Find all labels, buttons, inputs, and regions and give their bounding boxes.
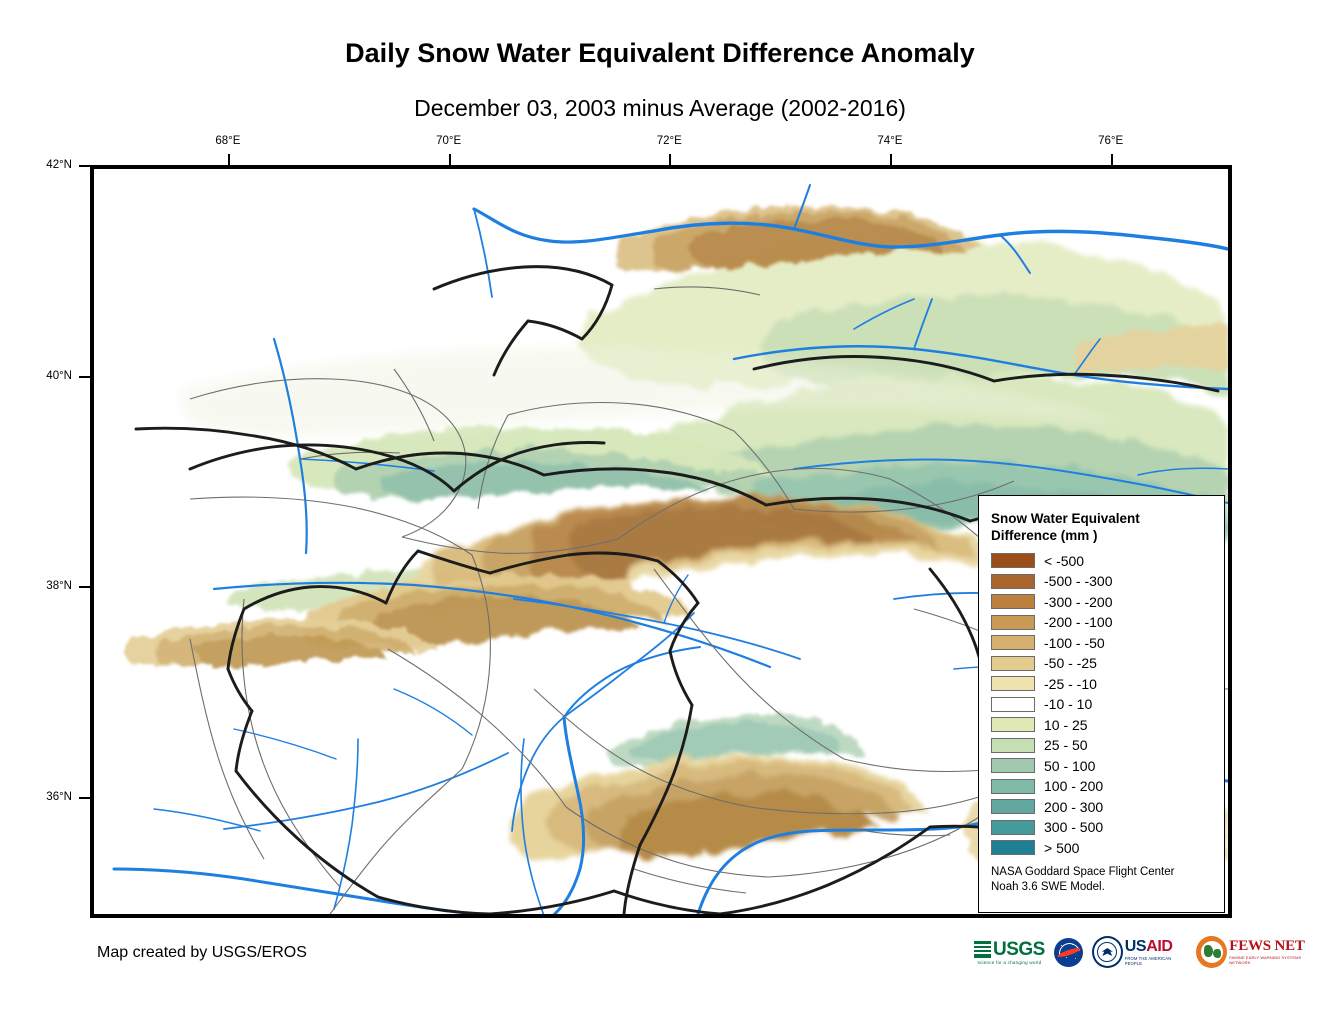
legend-row: -10 - 10 <box>991 694 1214 715</box>
longitude-tick-label: 74°E <box>877 135 902 147</box>
legend-row: 300 - 500 <box>991 817 1214 838</box>
legend-row: 100 - 200 <box>991 776 1214 797</box>
longitude-tick <box>669 154 671 165</box>
legend-label: -25 - -10 <box>1044 676 1097 692</box>
map-legend: Snow Water Equivalent Difference (mm ) <… <box>978 495 1225 913</box>
legend-source-line2: Noah 3.6 SWE Model. <box>991 880 1214 895</box>
legend-swatch <box>991 840 1035 855</box>
usaid-logo: USAID FROM THE AMERICAN PEOPLE <box>1092 935 1187 969</box>
legend-row: 10 - 25 <box>991 715 1214 736</box>
usgs-mark-icon <box>974 941 991 958</box>
latitude-tick-label: 40°N <box>46 370 72 382</box>
latitude-tick <box>79 165 90 167</box>
legend-title-line1: Snow Water Equivalent <box>991 510 1214 527</box>
legend-row: < -500 <box>991 551 1214 572</box>
legend-class-list: < -500-500 - -300-300 - -200-200 - -100-… <box>991 551 1214 859</box>
legend-label: -10 - 10 <box>1044 696 1092 712</box>
page-title: Daily Snow Water Equivalent Difference A… <box>0 38 1320 69</box>
legend-row: -25 - -10 <box>991 674 1214 695</box>
legend-label: -500 - -300 <box>1044 573 1112 589</box>
legend-label: < -500 <box>1044 553 1084 569</box>
legend-swatch <box>991 799 1035 814</box>
longitude-tick-label: 76°E <box>1098 135 1123 147</box>
longitude-tick-label: 72°E <box>657 135 682 147</box>
legend-row: 50 - 100 <box>991 756 1214 777</box>
longitude-tick <box>1111 154 1113 165</box>
legend-swatch <box>991 717 1035 732</box>
legend-swatch <box>991 594 1035 609</box>
legend-source: NASA Goddard Space Flight Center Noah 3.… <box>991 865 1214 895</box>
usgs-wordmark: USGS <box>993 940 1045 959</box>
longitude-tick <box>449 154 451 165</box>
legend-label: -200 - -100 <box>1044 614 1112 630</box>
latitude-tick-label: 42°N <box>46 159 72 171</box>
legend-label: 300 - 500 <box>1044 819 1103 835</box>
legend-row: -500 - -300 <box>991 571 1214 592</box>
usgs-logo: USGS science for a changing world <box>974 935 1045 969</box>
legend-title-line2: Difference (mm ) <box>991 527 1214 544</box>
legend-label: -100 - -50 <box>1044 635 1105 651</box>
legend-swatch <box>991 758 1035 773</box>
longitude-tick-label: 68°E <box>215 135 240 147</box>
legend-swatch <box>991 697 1035 712</box>
fewsnet-logo: FEWS NET FAMINE EARLY WARNING SYSTEMS NE… <box>1196 935 1320 969</box>
legend-title: Snow Water Equivalent Difference (mm ) <box>991 510 1214 545</box>
map-credit: Map created by USGS/EROS <box>97 944 307 962</box>
fewsnet-globe-icon <box>1196 936 1227 968</box>
legend-swatch <box>991 820 1035 835</box>
legend-label: -300 - -200 <box>1044 594 1112 610</box>
legend-label: 10 - 25 <box>1044 717 1088 733</box>
latitude-tick <box>79 376 90 378</box>
usaid-word-us: US <box>1125 938 1146 955</box>
nasa-meatball-icon <box>1054 938 1083 967</box>
legend-row: -100 - -50 <box>991 633 1214 654</box>
legend-label: 100 - 200 <box>1044 778 1103 794</box>
legend-swatch <box>991 615 1035 630</box>
usaid-seal-icon <box>1092 936 1123 968</box>
legend-source-line1: NASA Goddard Space Flight Center <box>991 865 1214 880</box>
page-subtitle: December 03, 2003 minus Average (2002-20… <box>0 95 1320 122</box>
latitude-tick <box>79 797 90 799</box>
latitude-tick-label: 36°N <box>46 791 72 803</box>
latitude-tick <box>79 586 90 588</box>
legend-swatch <box>991 553 1035 568</box>
longitude-tick <box>228 154 230 165</box>
legend-swatch <box>991 738 1035 753</box>
legend-swatch <box>991 635 1035 650</box>
latitude-tick-label: 38°N <box>46 580 72 592</box>
legend-row: -200 - -100 <box>991 612 1214 633</box>
legend-swatch <box>991 574 1035 589</box>
legend-row: 200 - 300 <box>991 797 1214 818</box>
legend-label: 200 - 300 <box>1044 799 1103 815</box>
nasa-logo <box>1054 935 1083 969</box>
logo-strip: USGS science for a changing world USAID … <box>974 934 1320 970</box>
legend-label: 50 - 100 <box>1044 758 1095 774</box>
usgs-tagline: science for a changing world <box>978 960 1042 965</box>
legend-label: > 500 <box>1044 840 1079 856</box>
legend-row: > 500 <box>991 838 1214 859</box>
legend-label: 25 - 50 <box>1044 737 1088 753</box>
legend-row: -300 - -200 <box>991 592 1214 613</box>
longitude-tick <box>890 154 892 165</box>
legend-swatch <box>991 656 1035 671</box>
fewsnet-tagline: FAMINE EARLY WARNING SYSTEMS NETWORK <box>1229 955 1320 965</box>
usaid-tagline: FROM THE AMERICAN PEOPLE <box>1125 956 1188 966</box>
longitude-tick-label: 70°E <box>436 135 461 147</box>
legend-label: -50 - -25 <box>1044 655 1097 671</box>
legend-row: 25 - 50 <box>991 735 1214 756</box>
legend-swatch <box>991 676 1035 691</box>
usaid-word-aid: AID <box>1146 938 1172 955</box>
fewsnet-wordmark: FEWS NET <box>1229 939 1320 954</box>
legend-swatch <box>991 779 1035 794</box>
legend-row: -50 - -25 <box>991 653 1214 674</box>
